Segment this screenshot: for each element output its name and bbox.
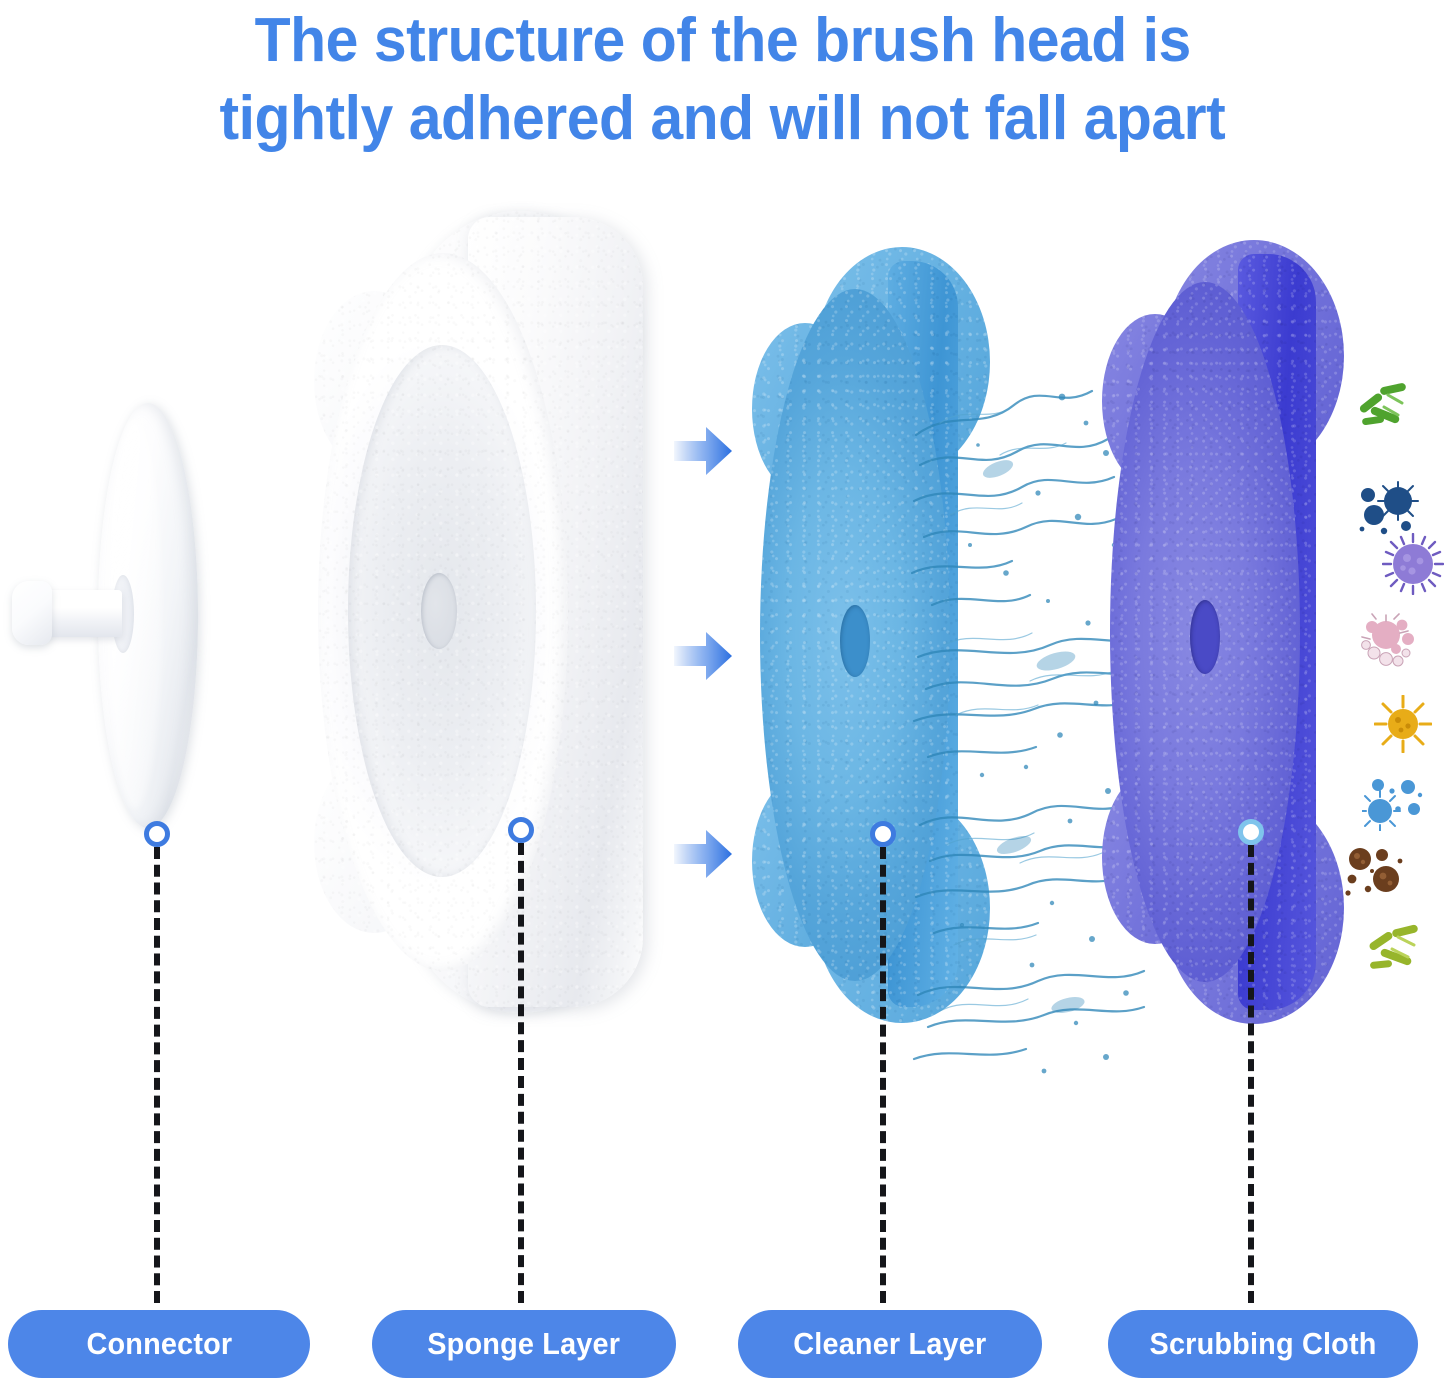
title-line-1: The structure of the brush head is: [254, 2, 1190, 80]
title-line-2: tightly adhered and will not fall apart: [220, 80, 1226, 158]
callout-marker-scrubbing[interactable]: [1238, 819, 1264, 845]
pink-cluster-germ-icon: [1356, 613, 1422, 678]
callout-marker-cleaner[interactable]: [870, 821, 896, 847]
assembly-arrow-1: [672, 420, 734, 482]
label-pill-connector[interactable]: Connector: [8, 1310, 310, 1378]
olive-rod-bacteria-icon: [1364, 923, 1430, 984]
sponge-center-hole: [421, 573, 457, 649]
green-rod-bacteria-icon: [1354, 381, 1420, 442]
connector-peg-tip: [12, 581, 52, 645]
callout-marker-connector[interactable]: [144, 821, 170, 847]
light-blue-dots-icon: [1362, 775, 1430, 836]
part-sponge-layer: [318, 205, 668, 1015]
purple-spiky-virus-icon: [1382, 533, 1444, 600]
label-cleaner-layer: Cleaner Layer: [793, 1326, 986, 1362]
label-pill-scrubbing-cloth[interactable]: Scrubbing Cloth: [1108, 1310, 1418, 1378]
yellow-spiky-virus-icon: [1374, 695, 1432, 758]
scrub-center-hole: [1190, 600, 1220, 674]
brown-specks-icon: [1342, 845, 1410, 906]
callout-line-scrubbing: [1248, 845, 1254, 1303]
page-title: The structure of the brush head is tight…: [0, 0, 1445, 185]
callout-line-connector: [154, 847, 160, 1303]
callout-line-sponge: [518, 843, 524, 1303]
part-scrubbing-cloth: [1110, 240, 1360, 1030]
label-pill-cleaner-layer[interactable]: Cleaner Layer: [738, 1310, 1042, 1378]
part-connector: [0, 385, 230, 855]
callout-line-cleaner: [880, 847, 886, 1303]
exploded-view-diagram: [0, 185, 1445, 1300]
label-pill-sponge-layer[interactable]: Sponge Layer: [372, 1310, 676, 1378]
germ-icons-group: [1340, 375, 1445, 1095]
label-connector: Connector: [86, 1326, 232, 1362]
cleaner-center-hole: [840, 605, 870, 677]
label-sponge-layer: Sponge Layer: [428, 1326, 621, 1362]
assembly-arrow-3: [672, 823, 734, 885]
label-scrubbing-cloth: Scrubbing Cloth: [1149, 1326, 1376, 1362]
part-label-row: Connector Sponge Layer Cleaner Layer Scr…: [0, 1310, 1445, 1382]
assembly-arrow-2: [672, 625, 734, 687]
callout-marker-sponge[interactable]: [508, 817, 534, 843]
